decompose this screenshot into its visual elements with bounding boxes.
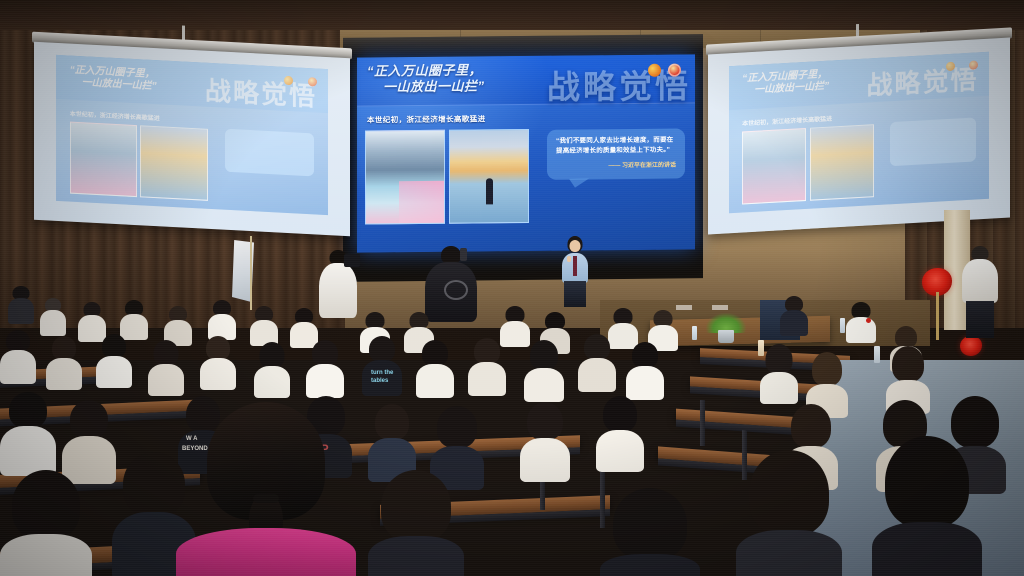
- audience-member: [600, 488, 700, 576]
- water-bottle: [692, 326, 697, 340]
- phone-icon: [460, 248, 467, 261]
- presenter: [558, 236, 592, 306]
- audience-member: [846, 302, 876, 342]
- audience-member: [250, 306, 278, 344]
- audience-member: turn the tables: [362, 336, 402, 394]
- audience-member: [306, 340, 344, 396]
- slide-subtitle: 本世纪初，浙江经济增长高歌猛进: [367, 113, 486, 125]
- flower-stand: [936, 292, 939, 340]
- audience-member: [780, 296, 808, 334]
- audience-member: [736, 450, 842, 576]
- audience-member: [254, 342, 290, 396]
- slide-quote-line1: “正入万山圈子里，: [367, 62, 567, 80]
- audience-member: [520, 402, 570, 480]
- lecture-hall-photo: “正入万山圈子里， 一山放出一山拦” 战略觉悟 本世纪初，浙江经济增长高歌猛进 …: [0, 0, 1024, 576]
- slide-quote-line2: 一山放出一山拦”: [367, 78, 567, 96]
- audience-member: [148, 340, 184, 394]
- audience-member: [96, 334, 132, 386]
- ceiling-soffit: [0, 0, 1024, 30]
- necktie: [573, 256, 577, 276]
- audience-member: [468, 338, 506, 394]
- party-emblem-icon: [648, 64, 661, 77]
- wall-vent: [676, 305, 692, 310]
- plant-pot: [718, 330, 734, 343]
- slide-quote: “正入万山圈子里， 一山放出一山拦”: [367, 62, 567, 96]
- right-projector-screen: “正入万山圈子里， 一山放出一山拦” 战略觉悟 本世纪初，浙江经济增长高歌猛进: [706, 27, 1012, 236]
- camera-icon: [344, 254, 360, 267]
- slide-thumbnail-2: [449, 129, 529, 224]
- audience-member: [208, 300, 236, 338]
- photographer-center: [424, 246, 478, 322]
- audience-member: [46, 336, 82, 388]
- skirt: [564, 281, 586, 307]
- audience-member: [626, 342, 664, 398]
- audience-member: [524, 340, 564, 400]
- audience-member: [0, 392, 56, 474]
- water-bottle: [874, 346, 880, 363]
- audience-member: [578, 334, 616, 390]
- audience-member: [368, 470, 464, 576]
- hair-tie: [253, 494, 279, 503]
- front-row-attendee: [176, 402, 356, 576]
- police-badge-icon: [668, 64, 681, 77]
- slide-thumbnail-1: [365, 130, 445, 225]
- lapel-badge-icon: [866, 318, 871, 323]
- audience-member: [760, 344, 798, 402]
- flag-pole: [250, 236, 252, 310]
- audience-member: [200, 336, 236, 388]
- microphone-icon: [567, 256, 571, 262]
- audience-member: [872, 436, 982, 576]
- slide-callout-source: —— 习近平在浙江的讲话: [556, 160, 676, 170]
- audience-member: [8, 286, 34, 322]
- photographer-left: [318, 250, 358, 318]
- audience-member: [40, 298, 66, 334]
- audience-member: [0, 470, 92, 576]
- audience-member: [416, 340, 454, 396]
- standing-staff-right: [960, 246, 1000, 338]
- audience-member: [164, 306, 192, 344]
- audience-member: [120, 300, 148, 338]
- audience-member: [368, 404, 416, 480]
- audience-member: [596, 396, 644, 470]
- slide-callout: “我们不要同人家去比增长速度，而要在提高经济增长的质量和效益上下功夫。” —— …: [547, 128, 685, 179]
- center-led-wall: “正入万山圈子里， 一山放出一山拦” 战略觉悟 本世纪初，浙江经济增长高歌猛进 …: [357, 54, 695, 252]
- audience-member: [0, 330, 36, 382]
- wall-vent: [712, 305, 728, 310]
- water-bottle: [840, 318, 845, 333]
- left-projector-screen: “正入万山圈子里， 一山放出一山拦” 战略觉悟 本世纪初，浙江经济增长高歌猛进: [32, 32, 352, 239]
- slide-callout-text: “我们不要同人家去比增长速度，而要在提高经济增长的质量和效益上下功夫。”: [556, 136, 676, 157]
